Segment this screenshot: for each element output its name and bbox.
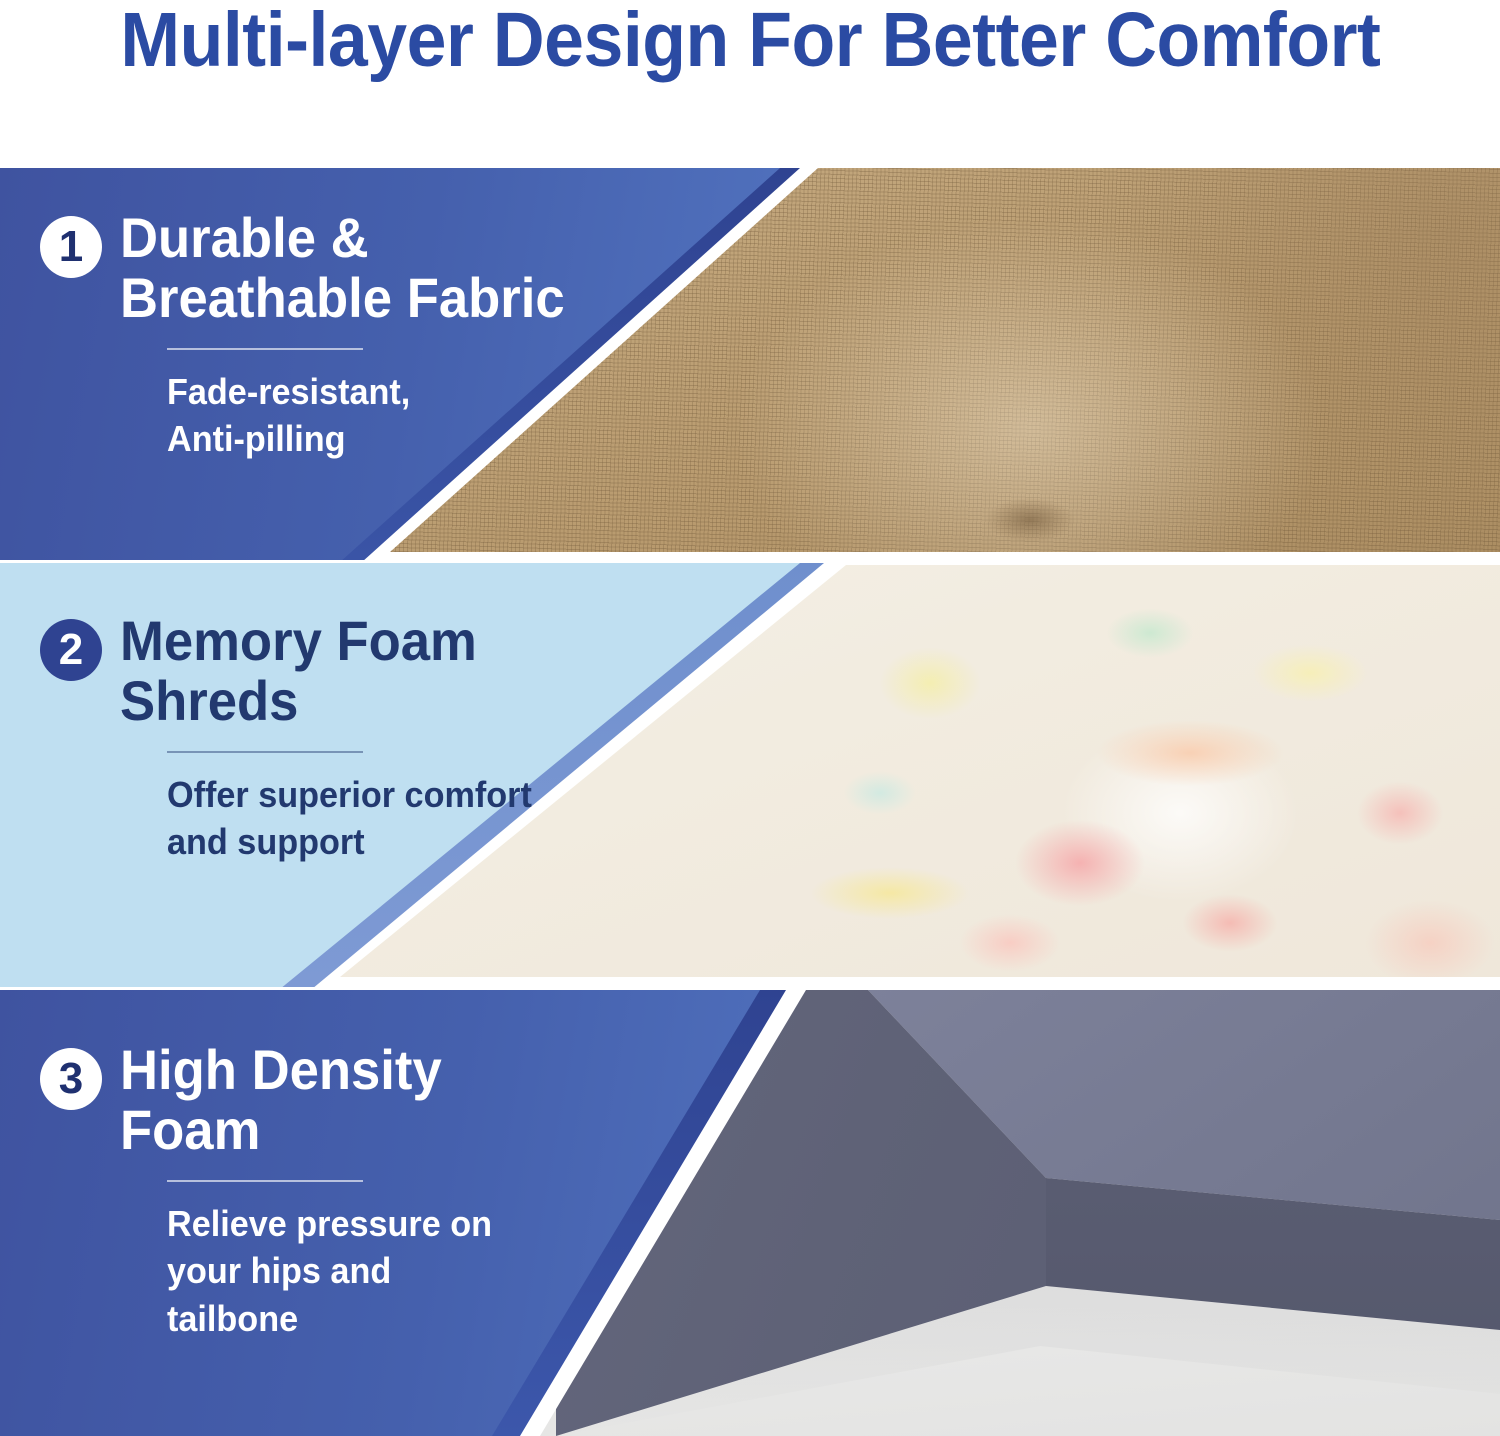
panel-3-heading-row: 3 High Density Foam [40, 1040, 509, 1160]
step-number-badge-2: 2 [40, 619, 102, 681]
panel-2-subtext: Offer superior comfort and support [167, 771, 532, 866]
panel-1-subtext: Fade-resistant, Anti-pilling [167, 368, 572, 463]
panel-2-heading-row: 2 Memory Foam Shreds [40, 611, 551, 731]
band-gap-1 [0, 560, 1500, 563]
panel-3-heading: High Density Foam [120, 1040, 442, 1160]
panel-3-divider [167, 1180, 363, 1182]
feature-panel-2: 2 Memory Foam Shreds Offer superior comf… [0, 563, 1500, 989]
panel-1-divider [167, 348, 363, 350]
panel-3-text: 3 High Density Foam Relieve pressure on … [40, 1040, 509, 1342]
panel-2-heading: Memory Foam Shreds [120, 611, 477, 731]
step-number-badge-1: 1 [40, 216, 102, 278]
step-number-badge-3: 3 [40, 1048, 102, 1110]
panel-2-divider [167, 751, 363, 753]
band-gap-2 [0, 987, 1500, 990]
panel-1-text: 1 Durable & Breathable Fabric Fade-resis… [40, 208, 593, 463]
feature-panel-3: 3 High Density Foam Relieve pressure on … [0, 990, 1500, 1436]
infographic-page: Multi-layer Design For Better Comfort 1 … [0, 0, 1500, 1436]
page-title: Multi-layer Design For Better Comfort [120, 2, 1380, 79]
panel-1-heading-row: 1 Durable & Breathable Fabric [40, 208, 593, 328]
panel-1-heading: Durable & Breathable Fabric [120, 208, 565, 328]
panel-3-subtext: Relieve pressure on your hips and tailbo… [167, 1200, 492, 1343]
feature-panel-1: 1 Durable & Breathable Fabric Fade-resis… [0, 168, 1500, 562]
title-bar: Multi-layer Design For Better Comfort [0, 0, 1500, 168]
panel-2-text: 2 Memory Foam Shreds Offer superior comf… [40, 611, 551, 866]
